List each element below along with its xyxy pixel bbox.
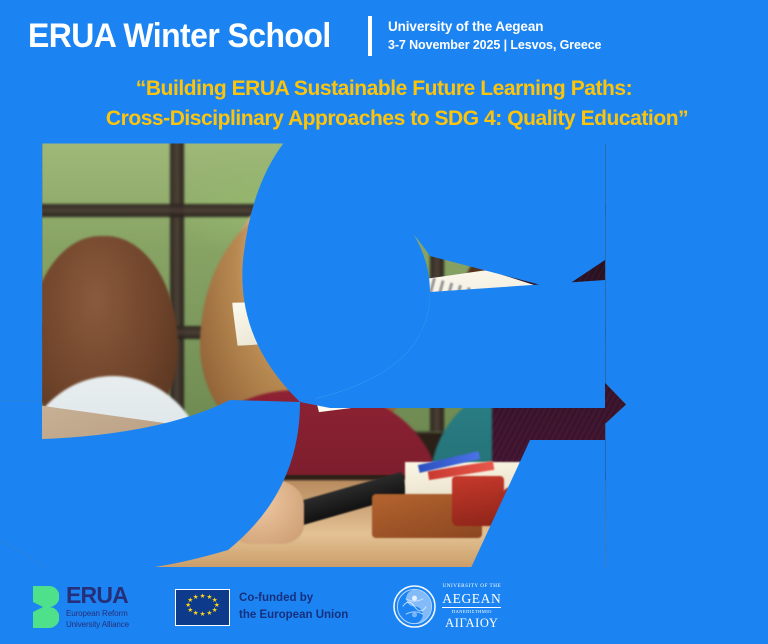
photo-content <box>0 140 768 570</box>
header-institution: University of the Aegean <box>388 18 601 36</box>
subtitle-line-1: “Building ERUA Sustainable Future Learni… <box>0 74 768 104</box>
aegean-wordmark: UNIVERSITY OF THE AEGEAN ΠΑΝΕΠΙΣΤΗΜΙΟ ΑΙ… <box>442 584 501 630</box>
hand <box>228 480 304 544</box>
logo-european-union: ★ ★ ★ ★ ★ ★ ★ ★ ★ ★ ★ ★ Co-funded by the… <box>175 589 348 626</box>
footer-logo-bar: ERUA European Reform University Alliance… <box>0 570 768 644</box>
red-mug <box>452 476 504 526</box>
aegean-line-2: AEGEAN <box>442 591 501 607</box>
erua-word: ERUA <box>66 584 129 607</box>
header-divider <box>368 16 372 56</box>
eu-line-1: Co-funded by <box>239 590 348 607</box>
aegean-line-3: ΠΑΝΕΠΙΣΤΗΜΙΟ <box>442 609 501 614</box>
header-dates-location: 3-7 November 2025 | Lesvos, Greece <box>388 37 601 54</box>
logo-university-of-the-aegean: UNIVERSITY OF THE AEGEAN ΠΑΝΕΠΙΣΤΗΜΙΟ ΑΙ… <box>393 584 501 630</box>
header-meta: University of the Aegean 3-7 November 20… <box>388 18 601 53</box>
aegean-rule <box>442 607 501 608</box>
erua-subline-1: European Reform <box>66 609 129 619</box>
poster-subtitle: “Building ERUA Sustainable Future Learni… <box>0 74 768 134</box>
window-mullion-left <box>170 140 184 432</box>
eu-funding-text: Co-funded by the European Union <box>239 590 348 623</box>
aegean-line-4: ΑΙΓΑΙΟΥ <box>442 616 501 630</box>
erua-symbol-icon <box>33 586 59 628</box>
aegean-line-1: UNIVERSITY OF THE <box>442 584 501 590</box>
poster-header: ERUA Winter School University of the Aeg… <box>0 0 768 72</box>
erua-wordmark: ERUA European Reform University Alliance <box>66 584 129 630</box>
page-title: ERUA Winter School <box>28 19 331 53</box>
photo-stage <box>0 140 768 570</box>
logo-erua: ERUA European Reform University Alliance <box>33 584 129 630</box>
event-photo <box>0 140 768 570</box>
eu-flag-icon: ★ ★ ★ ★ ★ ★ ★ ★ ★ ★ ★ ★ <box>175 589 230 626</box>
window-transom-upper <box>0 204 768 217</box>
aegean-seal-icon <box>393 585 436 628</box>
eu-line-2: the European Union <box>239 607 348 624</box>
subtitle-line-2: Cross-Disciplinary Approaches to SDG 4: … <box>0 104 768 134</box>
poster-root: ERUA Winter School University of the Aeg… <box>0 0 768 644</box>
erua-subline-2: University Alliance <box>66 620 129 630</box>
mug-handle <box>498 486 530 524</box>
